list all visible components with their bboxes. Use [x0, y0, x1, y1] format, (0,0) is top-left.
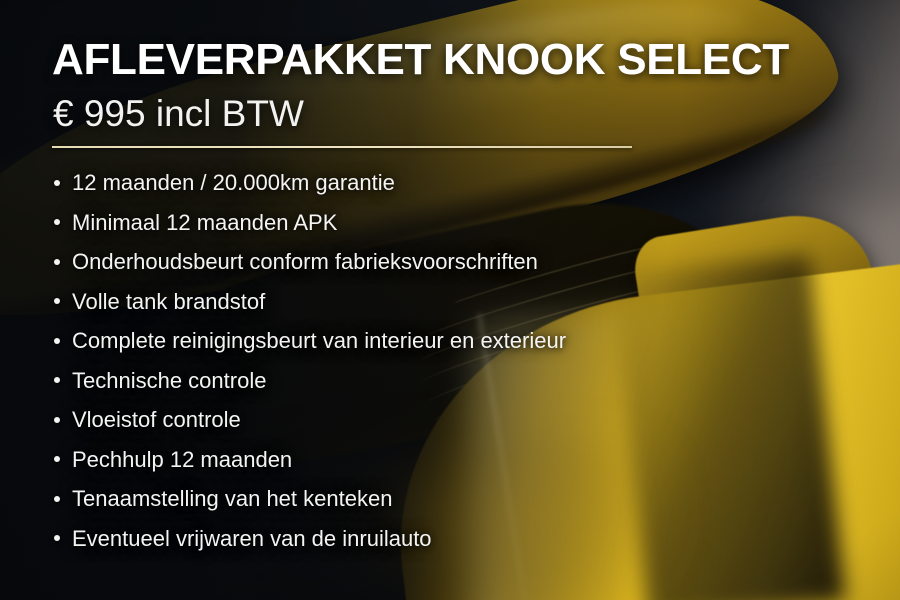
bullet-icon — [54, 496, 60, 502]
list-item-label: Complete reinigingsbeurt van interieur e… — [72, 328, 566, 353]
delivery-package-poster: AFLEVERPAKKET KNOOK SELECT € 995 incl BT… — [0, 0, 900, 600]
bullet-icon — [54, 456, 60, 462]
bullet-icon — [54, 338, 60, 344]
feature-list: 12 maanden / 20.000km garantie Minimaal … — [52, 163, 566, 558]
list-item-label: Eventueel vrijwaren van de inruilauto — [72, 526, 432, 551]
list-item-label: Volle tank brandstof — [72, 289, 265, 314]
list-item: Onderhoudsbeurt conform fabrieksvoorschr… — [52, 242, 566, 282]
bullet-icon — [54, 377, 60, 383]
bullet-icon — [54, 298, 60, 304]
bullet-icon — [54, 259, 60, 265]
list-item-label: Pechhulp 12 maanden — [72, 447, 292, 472]
list-item-label: Tenaamstelling van het kenteken — [72, 486, 392, 511]
bullet-icon — [54, 219, 60, 225]
list-item: Eventueel vrijwaren van de inruilauto — [52, 519, 566, 559]
bullet-icon — [54, 535, 60, 541]
list-item: Pechhulp 12 maanden — [52, 440, 566, 480]
list-item: Minimaal 12 maanden APK — [52, 203, 566, 243]
list-item: Volle tank brandstof — [52, 282, 566, 322]
list-item: Tenaamstelling van het kenteken — [52, 479, 566, 519]
bullet-icon — [54, 417, 60, 423]
list-item: 12 maanden / 20.000km garantie — [52, 163, 566, 203]
list-item: Vloeistof controle — [52, 400, 566, 440]
list-item-label: Technische controle — [72, 368, 266, 393]
list-item: Complete reinigingsbeurt van interieur e… — [52, 321, 566, 361]
page-title: AFLEVERPAKKET KNOOK SELECT — [52, 36, 789, 84]
title-divider — [52, 146, 632, 148]
list-item: Technische controle — [52, 361, 566, 401]
bullet-icon — [54, 180, 60, 186]
poster-content: AFLEVERPAKKET KNOOK SELECT € 995 incl BT… — [52, 0, 672, 600]
price-label: € 995 incl BTW — [53, 92, 304, 136]
list-item-label: Onderhoudsbeurt conform fabrieksvoorschr… — [72, 249, 538, 274]
list-item-label: Vloeistof controle — [72, 407, 241, 432]
list-item-label: 12 maanden / 20.000km garantie — [72, 170, 395, 195]
list-item-label: Minimaal 12 maanden APK — [72, 210, 337, 235]
